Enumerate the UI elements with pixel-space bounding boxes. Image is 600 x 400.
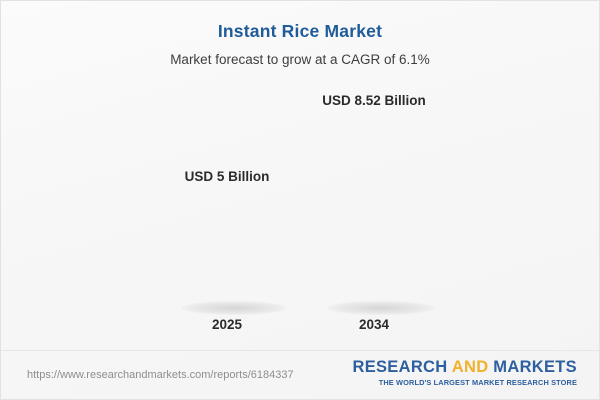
brand-word-research: RESEARCH xyxy=(352,358,451,376)
footer: https://www.researchandmarkets.com/repor… xyxy=(1,350,599,399)
bar-shadow-2025 xyxy=(181,301,287,315)
chart-plot-area: USD 5 Billion USD 8.52 Billion xyxy=(1,1,600,351)
x-axis-label-2025: 2025 xyxy=(212,317,242,332)
brand-tagline: THE WORLD'S LARGEST MARKET RESEARCH STOR… xyxy=(352,378,577,387)
brand-logo-wordmark: RESEARCH AND MARKETS xyxy=(352,359,577,376)
report-url-link[interactable]: https://www.researchandmarkets.com/repor… xyxy=(27,369,294,381)
bar-value-label-2025: USD 5 Billion xyxy=(185,169,270,184)
x-axis-label-2034: 2034 xyxy=(359,317,389,332)
bar-value-label-2034: USD 8.52 Billion xyxy=(322,93,426,108)
bar-shadow-2034 xyxy=(327,301,435,315)
brand-logo[interactable]: RESEARCH AND MARKETS THE WORLD'S LARGEST… xyxy=(352,359,577,387)
chart-card: Instant Rice Market Market forecast to g… xyxy=(0,0,600,400)
brand-word-markets: MARKETS xyxy=(488,358,577,376)
brand-word-and: AND xyxy=(452,358,489,376)
